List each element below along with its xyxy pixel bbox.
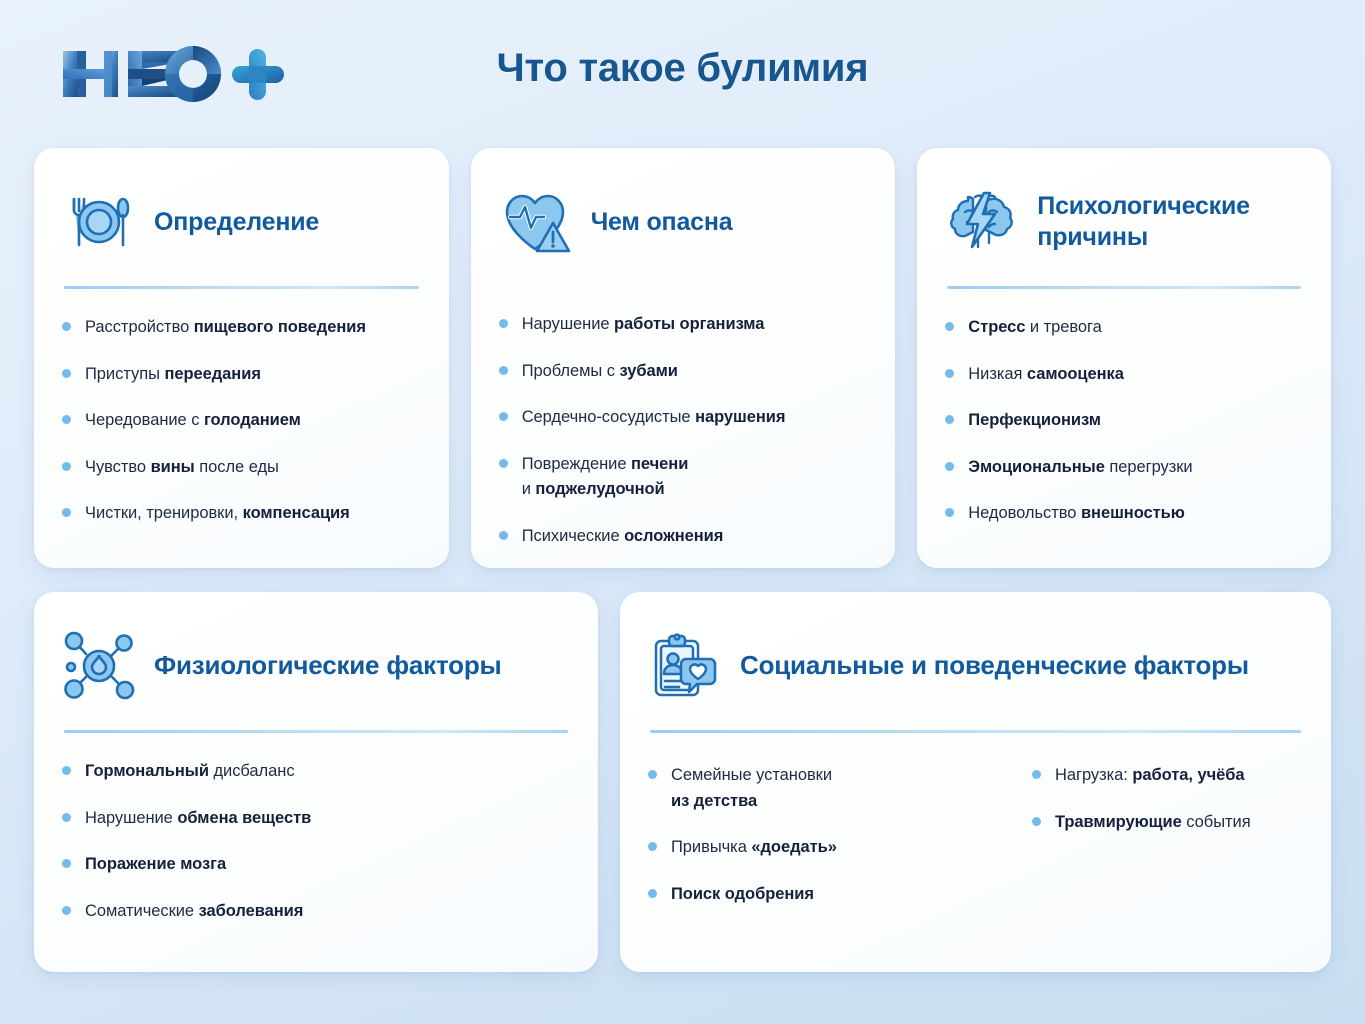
bullet-list: Семейные установкииз детства Привычка «д… (648, 763, 1303, 907)
bullet-list: Расстройство пищевого поведения Приступы… (62, 315, 421, 527)
bullet-text: Семейные установкииз детства (671, 763, 832, 814)
bullet-dot-icon (945, 415, 954, 424)
bullet-column-left: Семейные установкииз детства Привычка «д… (648, 763, 978, 907)
list-item: Стресс и тревога (945, 315, 1303, 341)
list-item: Сердечно-сосудистые нарушения (499, 405, 868, 431)
bullet-text: Чередование с голоданием (85, 408, 301, 434)
list-item: Психические осложнения (499, 524, 868, 550)
list-item: Чистки, тренировки, компенсация (62, 501, 421, 527)
card-title: Определение (154, 207, 319, 238)
list-item: Привычка «доедать» (648, 835, 978, 861)
card-header: Социальные и поведенческие факторы (648, 620, 1303, 712)
list-item: Гормональный дисбаланс (62, 759, 570, 785)
bullet-dot-icon (945, 369, 954, 378)
card-header: Физиологические факторы (62, 620, 570, 712)
clipboard-person-heart-icon (648, 629, 722, 703)
plate-cutlery-icon (62, 185, 136, 259)
bullet-text: Чувство вины после еды (85, 455, 279, 481)
page-title: Что такое булимия (0, 46, 1365, 91)
brain-lightning-icon (945, 185, 1019, 259)
bullet-text: Эмоциональные перегрузки (968, 455, 1192, 481)
bullet-text: Нарушение работы организма (522, 312, 765, 338)
card-header: Определение (62, 176, 421, 268)
bullet-text: Стресс и тревога (968, 315, 1101, 341)
card-psychological-causes[interactable]: Психологические причины Стресс и тревога… (917, 148, 1331, 568)
cards-grid: Определение Расстройство пищевого поведе… (0, 148, 1365, 972)
bullet-list: Стресс и тревога Низкая самооценка Перфе… (945, 315, 1303, 527)
bullet-dot-icon (62, 906, 71, 915)
list-item: Семейные установкииз детства (648, 763, 978, 814)
card-header: Психологические причины (945, 176, 1303, 268)
cards-row-top: Определение Расстройство пищевого поведе… (34, 148, 1331, 568)
list-item: Проблемы с зубами (499, 359, 868, 385)
card-danger[interactable]: Чем опасна Нарушение работы организма Пр… (471, 148, 896, 568)
bullet-text: Травмирующие события (1055, 810, 1251, 836)
card-title: Чем опасна (591, 207, 733, 238)
bullet-text: Поиск одобрения (671, 882, 814, 908)
bullet-text: Поражение мозга (85, 852, 226, 878)
card-divider (650, 730, 1301, 733)
list-item: Соматические заболевания (62, 899, 570, 925)
list-item: Поражение мозга (62, 852, 570, 878)
page-header: Что такое булимия (0, 0, 1365, 148)
bullet-text: Расстройство пищевого поведения (85, 315, 366, 341)
card-divider (64, 730, 568, 733)
bullet-text: Гормональный дисбаланс (85, 759, 295, 785)
bullet-list: Гормональный дисбаланс Нарушение обмена … (62, 759, 570, 924)
list-item: Травмирующие события (1032, 810, 1312, 836)
list-item: Недовольство внешностью (945, 501, 1303, 527)
bullet-column-right: Нагрузка: работа, учёба Травмирующие соб… (1032, 763, 1312, 907)
card-title: Физиологические факторы (154, 650, 502, 682)
card-header: Чем опасна (499, 176, 868, 268)
bullet-dot-icon (499, 412, 508, 421)
list-item: Расстройство пищевого поведения (62, 315, 421, 341)
list-item: Повреждение печении поджелудочной (499, 452, 868, 503)
bullet-dot-icon (945, 322, 954, 331)
bullet-text: Низкая самооценка (968, 362, 1124, 388)
list-item: Эмоциональные перегрузки (945, 455, 1303, 481)
bullet-dot-icon (945, 462, 954, 471)
bullet-dot-icon (62, 322, 71, 331)
heart-pulse-warning-icon (499, 185, 573, 259)
bullet-dot-icon (648, 770, 657, 779)
bullet-dot-icon (62, 369, 71, 378)
card-physiological-factors[interactable]: Физиологические факторы Гормональный дис… (34, 592, 598, 972)
card-divider (947, 286, 1301, 289)
bullet-dot-icon (499, 531, 508, 540)
list-item: Нарушение работы организма (499, 312, 868, 338)
bullet-text: Психические осложнения (522, 524, 724, 550)
bullet-text: Приступы переедания (85, 362, 261, 388)
list-item: Чередование с голоданием (62, 408, 421, 434)
bullet-text: Нагрузка: работа, учёба (1055, 763, 1245, 789)
bullet-text: Нарушение обмена веществ (85, 806, 311, 832)
bullet-text: Сердечно-сосудистые нарушения (522, 405, 786, 431)
bullet-dot-icon (648, 842, 657, 851)
cards-row-bottom: Физиологические факторы Гормональный дис… (34, 592, 1331, 972)
bullet-text: Повреждение печении поджелудочной (522, 452, 689, 503)
bullet-text: Проблемы с зубами (522, 359, 678, 385)
bullet-dot-icon (62, 813, 71, 822)
bullet-dot-icon (62, 766, 71, 775)
list-item: Низкая самооценка (945, 362, 1303, 388)
bullet-dot-icon (62, 462, 71, 471)
bullet-dot-icon (648, 889, 657, 898)
bullet-text: Чистки, тренировки, компенсация (85, 501, 350, 527)
card-title: Психологические причины (1037, 191, 1303, 253)
list-item: Поиск одобрения (648, 882, 978, 908)
list-item: Чувство вины после еды (62, 455, 421, 481)
bullet-text: Привычка «доедать» (671, 835, 837, 861)
molecule-hormone-icon (62, 629, 136, 703)
bullet-dot-icon (499, 459, 508, 468)
bullet-dot-icon (62, 415, 71, 424)
list-item: Приступы переедания (62, 362, 421, 388)
bullet-dot-icon (62, 859, 71, 868)
bullet-dot-icon (499, 366, 508, 375)
list-item: Нарушение обмена веществ (62, 806, 570, 832)
list-item: Перфекционизм (945, 408, 1303, 434)
card-title: Социальные и поведенческие факторы (740, 650, 1249, 682)
list-item: Нагрузка: работа, учёба (1032, 763, 1312, 789)
bullet-dot-icon (1032, 770, 1041, 779)
bullet-text: Перфекционизм (968, 408, 1101, 434)
bullet-list: Нарушение работы организма Проблемы с зу… (499, 312, 868, 549)
bullet-text: Недовольство внешностью (968, 501, 1185, 527)
bullet-dot-icon (945, 508, 954, 517)
bullet-dot-icon (1032, 817, 1041, 826)
card-divider (64, 286, 419, 289)
bullet-dot-icon (499, 319, 508, 328)
bullet-text: Соматические заболевания (85, 899, 303, 925)
card-social-behavioral-factors[interactable]: Социальные и поведенческие факторы Семей… (620, 592, 1331, 972)
card-definition[interactable]: Определение Расстройство пищевого поведе… (34, 148, 449, 568)
bullet-dot-icon (62, 508, 71, 517)
